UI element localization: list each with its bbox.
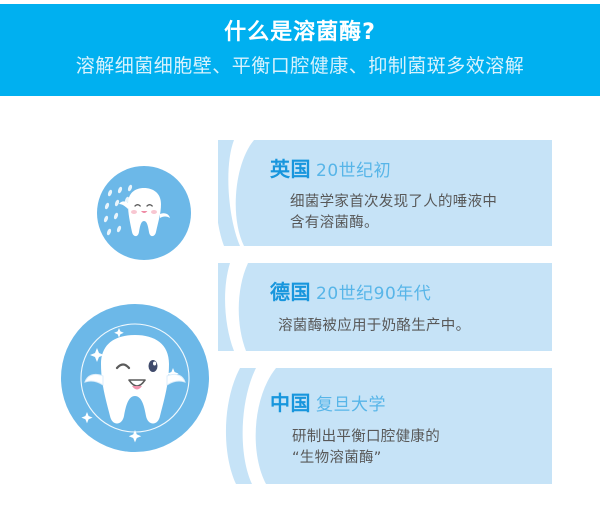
card-uk-body-line: 细菌学家首次发现了人的唾液中 xyxy=(290,192,540,213)
card-china-heading: 中国复旦大学 xyxy=(270,390,540,418)
card-germany-period: 20世纪90年代 xyxy=(316,284,431,304)
card-germany-content: 德国20世纪90年代 溶菌酶被应用于奶酪生产中。 xyxy=(270,263,540,337)
card-china[interactable]: 中国复旦大学 研制出平衡口腔健康的 “生物溶菌酶” xyxy=(218,368,552,484)
header-banner: 什么是溶菌酶? 溶解细菌细胞壁、平衡口腔健康、抑制菌斑多效溶解 xyxy=(0,4,600,96)
card-china-content: 中国复旦大学 研制出平衡口腔健康的 “生物溶菌酶” xyxy=(270,368,540,469)
small-tooth-circle xyxy=(97,166,191,260)
card-china-period: 复旦大学 xyxy=(316,395,386,415)
large-tooth-circle xyxy=(61,304,209,452)
card-china-body-line: 研制出平衡口腔健康的 xyxy=(292,427,540,448)
small-tooth-icon xyxy=(97,166,191,260)
card-china-body-line: “生物溶菌酶” xyxy=(292,448,540,469)
card-uk-body: 细菌学家首次发现了人的唾液中 含有溶菌酶。 xyxy=(290,192,540,234)
card-china-country: 中国 xyxy=(270,391,311,415)
card-china-body: 研制出平衡口腔健康的 “生物溶菌酶” xyxy=(292,427,540,469)
card-germany-body-line: 溶菌酶被应用于奶酪生产中。 xyxy=(278,316,540,337)
card-germany-country: 德国 xyxy=(270,280,311,304)
illustration-column xyxy=(0,96,230,521)
card-germany[interactable]: 德国20世纪90年代 溶菌酶被应用于奶酪生产中。 xyxy=(218,263,552,351)
infographic-page: 什么是溶菌酶? 溶解细菌细胞壁、平衡口腔健康、抑制菌斑多效溶解 xyxy=(0,0,600,521)
card-uk-body-line: 含有溶菌酶。 xyxy=(290,213,540,234)
large-tooth-icon xyxy=(61,304,209,452)
card-uk-period: 20世纪初 xyxy=(316,161,391,181)
card-germany-heading: 德国20世纪90年代 xyxy=(270,279,540,307)
page-subtitle: 溶解细菌细胞壁、平衡口腔健康、抑制菌斑多效溶解 xyxy=(0,47,600,79)
page-title: 什么是溶菌酶? xyxy=(0,4,600,47)
card-uk-content: 英国20世纪初 细菌学家首次发现了人的唾液中 含有溶菌酶。 xyxy=(270,140,540,234)
card-uk-country: 英国 xyxy=(270,157,311,181)
timeline-cards: 英国20世纪初 细菌学家首次发现了人的唾液中 含有溶菌酶。 德国20世纪90年代… xyxy=(218,96,600,521)
card-uk[interactable]: 英国20世纪初 细菌学家首次发现了人的唾液中 含有溶菌酶。 xyxy=(218,140,552,246)
card-germany-body: 溶菌酶被应用于奶酪生产中。 xyxy=(278,316,540,337)
card-uk-heading: 英国20世纪初 xyxy=(270,156,540,184)
